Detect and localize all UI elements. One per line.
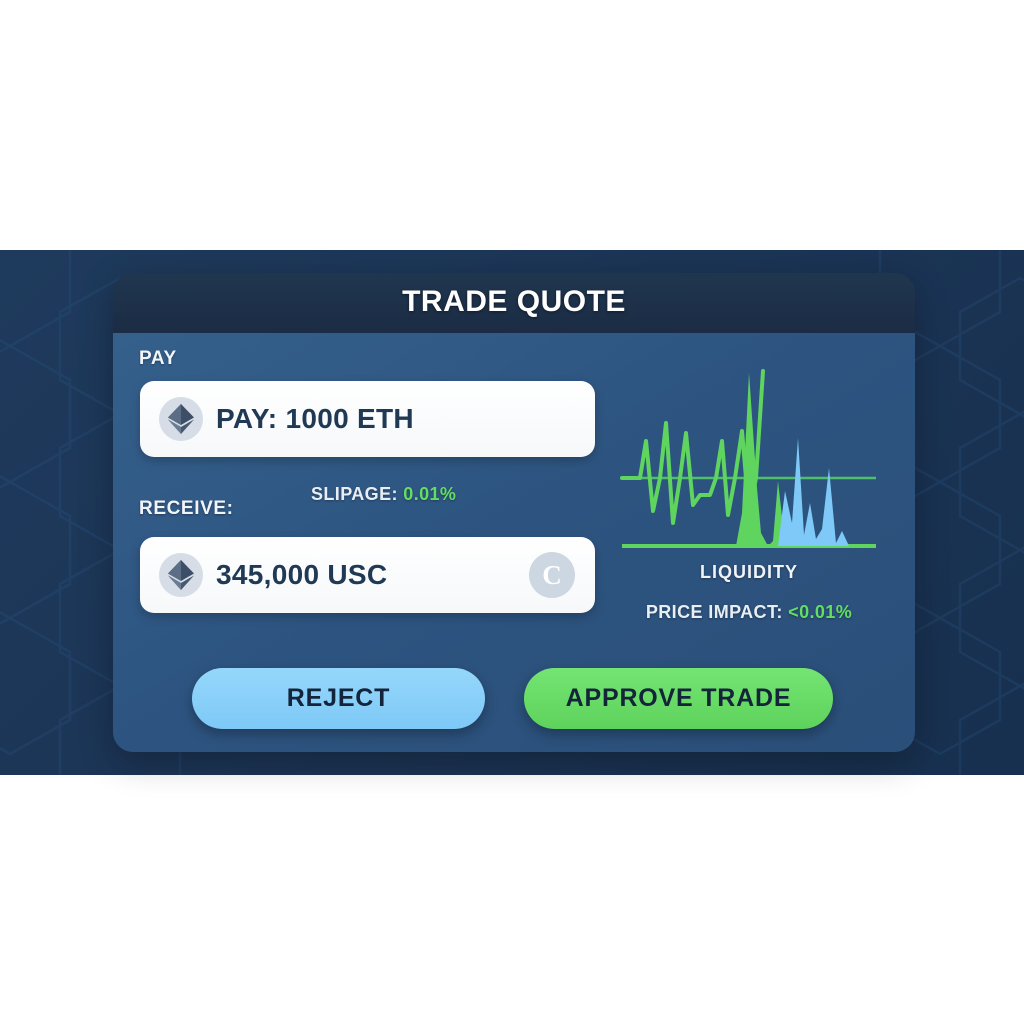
ethereum-glyph bbox=[168, 560, 194, 590]
price-impact-value: <0.01% bbox=[788, 602, 852, 622]
approve-trade-button[interactable]: APPROVE TRADE bbox=[524, 668, 833, 729]
pay-input[interactable]: PAY: 1000 ETH bbox=[140, 381, 595, 457]
usdc-coin-icon[interactable]: C bbox=[529, 552, 575, 598]
page-title: TRADE QUOTE bbox=[113, 273, 915, 333]
slippage-value: 0.01% bbox=[403, 484, 456, 504]
ethereum-glyph bbox=[168, 404, 194, 434]
blue-liquidity-area bbox=[778, 438, 849, 546]
receive-value: 345,000 USC bbox=[216, 559, 387, 591]
reject-button[interactable]: REJECT bbox=[192, 668, 485, 729]
volatility-line bbox=[622, 371, 763, 523]
slippage-label: SLIPAGE: bbox=[311, 484, 398, 504]
receive-label: RECEIVE: bbox=[139, 498, 234, 520]
ethereum-icon bbox=[159, 397, 203, 441]
ethereum-icon bbox=[159, 553, 203, 597]
price-impact-row: PRICE IMPACT: <0.01% bbox=[598, 602, 900, 623]
screenshot-root: TRADE QUOTE PAY PAY: 1000 ETH RECEIVE: S… bbox=[0, 0, 1024, 1024]
slippage-row: SLIPAGE: 0.01% bbox=[311, 484, 456, 505]
liquidity-caption: LIQUIDITY bbox=[618, 562, 880, 583]
liquidity-chart bbox=[618, 363, 880, 555]
pay-label: PAY bbox=[139, 348, 177, 370]
liquidity-chart-svg bbox=[618, 363, 880, 555]
pay-value: PAY: 1000 ETH bbox=[216, 403, 414, 435]
price-impact-label: PRICE IMPACT: bbox=[646, 602, 783, 622]
receive-input[interactable]: 345,000 USC C bbox=[140, 537, 595, 613]
